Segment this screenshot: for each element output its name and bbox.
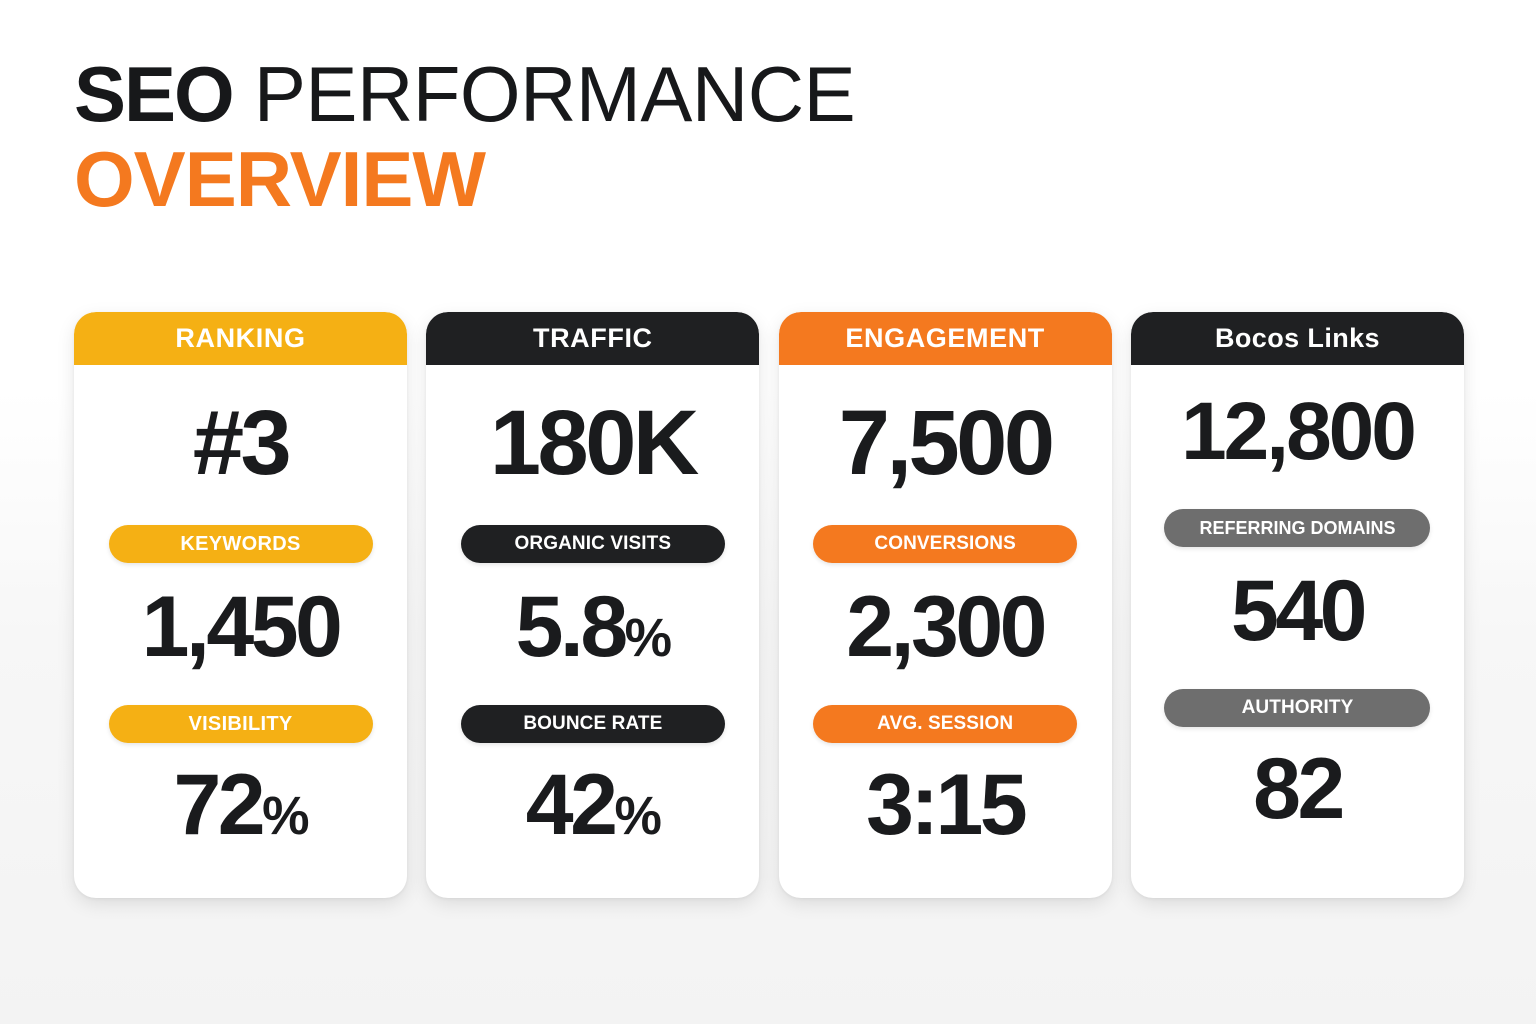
metric-card-traffic[interactable]: TRAFFIC 180K ORGANIC VISITS 5.8% BOUNCE … (426, 312, 759, 898)
primary-metric-number: 12,800 (1181, 386, 1414, 477)
pill-label: REFERRING DOMAINS (1199, 518, 1395, 539)
card-header-traffic: TRAFFIC (426, 312, 759, 365)
secondary-metric-value: 5.8% (516, 581, 670, 685)
pill-label: KEYWORDS (180, 533, 300, 556)
tertiary-metric-suffix: % (614, 787, 659, 846)
pill-label: AUTHORITY (1242, 697, 1354, 719)
title-word-seo: SEO (74, 50, 233, 138)
secondary-metric-number: 2,300 (846, 579, 1044, 675)
title-word-performance: PERFORMANCE (233, 50, 855, 138)
card-header-label: Bocos Links (1215, 323, 1380, 354)
tertiary-metric-suffix: % (262, 787, 307, 846)
card-body-traffic: 180K ORGANIC VISITS 5.8% BOUNCE RATE 42% (426, 365, 759, 898)
metric-pill-conversions: CONVERSIONS (813, 525, 1077, 563)
pill-label: VISIBILITY (188, 713, 292, 736)
tertiary-metric-number: 72 (173, 757, 262, 853)
card-header-label: TRAFFIC (533, 323, 653, 354)
card-body-backlinks: 12,800 REFERRING DOMAINS 540 AUTHORITY 8… (1131, 365, 1464, 898)
metric-card-ranking[interactable]: RANKING #3 KEYWORDS 1,450 VISIBILITY 72% (74, 312, 407, 898)
primary-metric-value: 12,800 (1181, 387, 1414, 487)
card-header-label: ENGAGEMENT (845, 323, 1045, 354)
metric-cards-row: RANKING #3 KEYWORDS 1,450 VISIBILITY 72%… (74, 312, 1464, 898)
pill-label: CONVERSIONS (874, 533, 1016, 555)
metric-pill-avg-session: AVG. SESSION (813, 705, 1077, 743)
tertiary-metric-value: 82 (1253, 743, 1342, 847)
secondary-metric-number: 540 (1231, 563, 1364, 659)
metric-pill-visibility: VISIBILITY (109, 705, 373, 743)
pill-label: AVG. SESSION (877, 713, 1013, 735)
card-header-backlinks: Bocos Links (1131, 312, 1464, 365)
tertiary-metric-number: 42 (526, 757, 615, 853)
tertiary-metric-value: 3:15 (866, 759, 1024, 863)
primary-metric-number: 7,500 (839, 392, 1052, 494)
metric-card-backlinks[interactable]: Bocos Links 12,800 REFERRING DOMAINS 540… (1131, 312, 1464, 898)
metric-pill-organic-visits: ORGANIC VISITS (461, 525, 725, 563)
secondary-metric-suffix: % (625, 609, 670, 668)
secondary-metric-number: 5.8 (516, 579, 625, 675)
page-title: SEO PERFORMANCE OVERVIEW (74, 52, 1074, 222)
tertiary-metric-value: 72% (173, 759, 307, 863)
card-body-engagement: 7,500 CONVERSIONS 2,300 AVG. SESSION 3:1… (779, 365, 1112, 898)
secondary-metric-number: 1,450 (142, 579, 340, 675)
primary-metric-value: #3 (193, 395, 288, 503)
card-body-ranking: #3 KEYWORDS 1,450 VISIBILITY 72% (74, 365, 407, 898)
primary-metric-number: #3 (193, 392, 288, 494)
metric-pill-bounce-rate: BOUNCE RATE (461, 705, 725, 743)
card-header-ranking: RANKING (74, 312, 407, 365)
card-header-engagement: ENGAGEMENT (779, 312, 1112, 365)
secondary-metric-value: 540 (1231, 565, 1364, 669)
metric-card-engagement[interactable]: ENGAGEMENT 7,500 CONVERSIONS 2,300 AVG. … (779, 312, 1112, 898)
tertiary-metric-value: 42% (526, 759, 660, 863)
tertiary-metric-number: 3:15 (866, 757, 1024, 853)
secondary-metric-value: 1,450 (142, 581, 340, 685)
card-header-label: RANKING (175, 323, 305, 354)
metric-pill-authority: AUTHORITY (1164, 689, 1430, 727)
metric-pill-keywords: KEYWORDS (109, 525, 373, 563)
tertiary-metric-number: 82 (1253, 741, 1342, 837)
secondary-metric-value: 2,300 (846, 581, 1044, 685)
primary-metric-value: 180K (490, 395, 696, 503)
pill-label: ORGANIC VISITS (515, 533, 672, 555)
title-line-primary: SEO PERFORMANCE (74, 52, 1074, 136)
pill-label: BOUNCE RATE (523, 713, 662, 735)
primary-metric-value: 7,500 (839, 395, 1052, 503)
title-line-secondary: OVERVIEW (74, 136, 1074, 222)
primary-metric-number: 180K (490, 392, 696, 494)
metric-pill-referring-domains: REFERRING DOMAINS (1164, 509, 1430, 547)
